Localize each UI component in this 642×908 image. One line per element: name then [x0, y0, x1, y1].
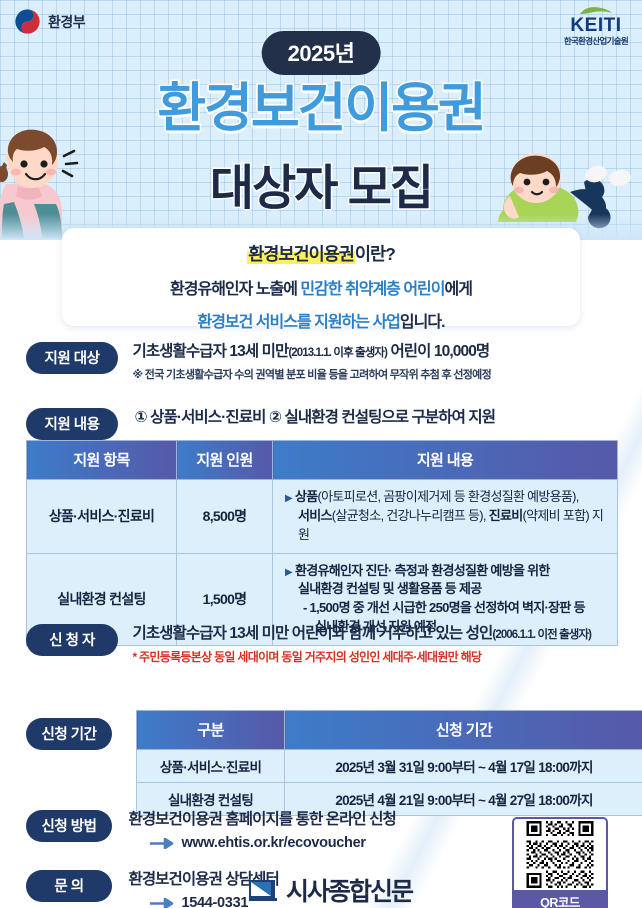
r2l3: - 1,500명 중 개선 시급한 250명을 선정하여 벽지·장판 등 [303, 600, 585, 615]
applicant-note: * 주민등록등본상 동일 세대이며 동일 거주지의 성인인 세대주·세대원만 해… [132, 648, 591, 665]
poster-title-line1: 환경보건이용권 [0, 66, 642, 142]
keiti-abbr: KEITI [564, 16, 628, 35]
target-main-small: (2013.1.1. 이후 출생자) [288, 347, 387, 359]
support-row2-line1: ▶환경유해인자 진단· 측정과 환경성질환 예방을 위한 [285, 562, 609, 581]
r1l2-bold2: 진료비 [489, 508, 523, 523]
r1l2-bold: 서비스 [298, 508, 332, 523]
support-col-count: 지원 인원 [177, 441, 273, 480]
support-table-header-row: 지원 항목 지원 인원 지원 내용 [27, 441, 618, 480]
arrow-right-icon [150, 838, 174, 849]
support-row1-item: 상품·서비스·진료비 [27, 480, 177, 554]
definition-line2-rest: 입니다. [400, 314, 445, 331]
support-headline: ① 상품·서비스·진료비 ② 실내환경 컨설팅으로 구분하여 지원 [134, 409, 495, 426]
poster-root: 환경부 KEITI 한국환경산업기술원 [0, 0, 642, 908]
method-link-row[interactable]: www.ehtis.or.kr/ecovoucher [150, 835, 395, 851]
arrow-right-icon [150, 898, 174, 908]
method-section: 신청 방법 환경보건이용권 홈페이지를 통한 온라인 신청 www.ehtis.… [26, 810, 496, 851]
definition-line-1: 환경유해인자 노출에 민감한 취약계층 어린이에게 [62, 275, 580, 299]
r1l1-bold: 상품 [295, 489, 318, 504]
period-pill: 신청 기간 [26, 718, 112, 750]
qr-code-label: QR코드 [514, 890, 606, 908]
keiti-fullname: 한국환경산업기술원 [564, 37, 628, 46]
period-row1-period: 2025년 3월 31일 9:00부터 ~ 4월 17일 18:00까지 [285, 750, 642, 783]
support-col-detail: 지원 내용 [273, 441, 618, 480]
target-section: 지원 대상 기초생활수급자 13세 미만(2013.1.1. 이후 출생자) 어… [26, 342, 626, 382]
definition-line-2: 환경보건 서비스를 지원하는 사업입니다. [62, 308, 580, 332]
inquiry-phone[interactable]: 1544-0331 [181, 895, 248, 908]
support-row1-line2: 서비스(살균청소, 건강나누리캠프 등), 진료비(약제비 포함) 지원 [285, 507, 609, 545]
method-pill: 신청 방법 [26, 810, 112, 842]
definition-heading-rest: 이란? [355, 244, 395, 264]
method-text: 환경보건이용권 홈페이지를 통한 온라인 신청 [128, 811, 395, 828]
leaf-icon [579, 6, 613, 15]
period-col-item: 구분 [137, 711, 285, 750]
bullet-icon: ▶ [285, 493, 292, 504]
taegeuk-icon [14, 8, 41, 35]
support-row1-count: 8,500명 [177, 480, 273, 554]
r2l2: 실내환경 컨설팅 및 생활용품 등 제공 [298, 581, 481, 596]
support-row2-line2: 실내환경 컨설팅 및 생활용품 등 제공 [285, 580, 609, 599]
r2l1: 환경유해인자 진단· 측정과 환경성질환 예방을 위한 [295, 563, 550, 578]
bullet-icon: ▶ [285, 567, 292, 578]
r1l1-normal: (아토피로션, 곰팡이제거제 등 환경성질환 예방용품), [318, 489, 579, 504]
definition-line1-part1: 환경유해인자 노출에 [170, 281, 300, 298]
newspaper-logo: 시사종합신문 [248, 872, 412, 908]
support-row1-detail: ▶상품(아토피로션, 곰팡이제거제 등 환경성질환 예방용품), 서비스(살균청… [273, 480, 618, 554]
period-col-period: 신청 기간 [285, 711, 642, 750]
support-col-item: 지원 항목 [27, 441, 177, 480]
definition-line1-blue: 민감한 취약계층 어린이 [300, 281, 444, 298]
applicant-main-a: 기초생활수급자 13세 미만 어린이와 함께 거주하고 있는 성인 [132, 625, 492, 642]
applicant-pill: 신 청 자 [26, 624, 118, 656]
definition-line1-part2: 에게 [445, 281, 472, 298]
ministry-logo: 환경부 [14, 8, 85, 35]
definition-heading: 환경보건이용권이란? [62, 241, 580, 266]
support-table: 지원 항목 지원 인원 지원 내용 상품·서비스·진료비 8,500명 ▶상품(… [26, 440, 618, 646]
support-row2-line3: - 1,500명 중 개선 시급한 250명을 선정하여 벽지·장판 등 [285, 599, 609, 618]
target-note: ※ 전국 기초생활수급자 수의 권역별 분포 비율 등을 고려하여 무작위 추첨… [132, 366, 491, 382]
inquiry-pill: 문 의 [26, 870, 112, 902]
newspaper-name: 시사종합신문 [286, 872, 412, 908]
poster-title-line2: 대상자 모집 [0, 148, 642, 218]
newspaper-logo-icon [248, 876, 278, 904]
support-headline-wrap: ① 상품·서비스·진료비 ② 실내환경 컨설팅으로 구분하여 지원 [134, 408, 495, 427]
table-row: 상품·서비스·진료비 2025년 3월 31일 9:00부터 ~ 4월 17일 … [137, 750, 642, 783]
hero-banner: 환경부 KEITI 한국환경산업기술원 [0, 0, 642, 240]
applicant-section: 신 청 자 기초생활수급자 13세 미만 어린이와 함께 거주하고 있는 성인(… [26, 624, 631, 665]
method-body: 환경보건이용권 홈페이지를 통한 온라인 신청 www.ehtis.or.kr/… [128, 810, 395, 851]
target-main-text: 기초생활수급자 13세 미만(2013.1.1. 이후 출생자) 어린이 10,… [132, 343, 489, 360]
target-pill: 지원 대상 [26, 342, 118, 374]
target-body: 기초생활수급자 13세 미만(2013.1.1. 이후 출생자) 어린이 10,… [132, 342, 491, 382]
qr-code-icon [514, 819, 606, 890]
r1l2-normal: (살균청소, 건강나누리캠프 등), [332, 508, 489, 523]
applicant-body: 기초생활수급자 13세 미만 어린이와 함께 거주하고 있는 성인(2006.1… [132, 624, 591, 665]
period-table-header-row: 구분 신청 기간 [137, 711, 642, 750]
support-row1-line1: ▶상품(아토피로션, 곰팡이제거제 등 환경성질환 예방용품), [285, 488, 609, 507]
table-row: 상품·서비스·진료비 8,500명 ▶상품(아토피로션, 곰팡이제거제 등 환경… [27, 480, 618, 554]
period-table: 구분 신청 기간 상품·서비스·진료비 2025년 3월 31일 9:00부터 … [136, 710, 642, 816]
period-row1-item: 상품·서비스·진료비 [137, 750, 285, 783]
definition-box: 환경보건이용권이란? 환경유해인자 노출에 민감한 취약계층 어린이에게 환경보… [62, 228, 580, 326]
definition-heading-highlight: 환경보건이용권 [247, 244, 355, 264]
qr-code-block[interactable]: QR코드 [512, 817, 608, 908]
target-main-b: 어린이 10,000명 [387, 343, 489, 360]
method-url[interactable]: www.ehtis.or.kr/ecovoucher [181, 835, 365, 851]
support-pill: 지원 내용 [26, 408, 118, 440]
keiti-logo: KEITI 한국환경산업기술원 [564, 6, 628, 46]
target-main-a: 기초생활수급자 13세 미만 [132, 343, 288, 360]
applicant-main-small: (2006.1.1. 이전 출생자) [492, 629, 591, 641]
ministry-name: 환경부 [48, 12, 85, 32]
support-section: 지원 내용 ① 상품·서비스·진료비 ② 실내환경 컨설팅으로 구분하여 지원 [26, 408, 626, 440]
definition-line2-blue: 환경보건 서비스를 지원하는 사업 [197, 314, 399, 331]
applicant-main-text: 기초생활수급자 13세 미만 어린이와 함께 거주하고 있는 성인(2006.1… [132, 625, 591, 642]
